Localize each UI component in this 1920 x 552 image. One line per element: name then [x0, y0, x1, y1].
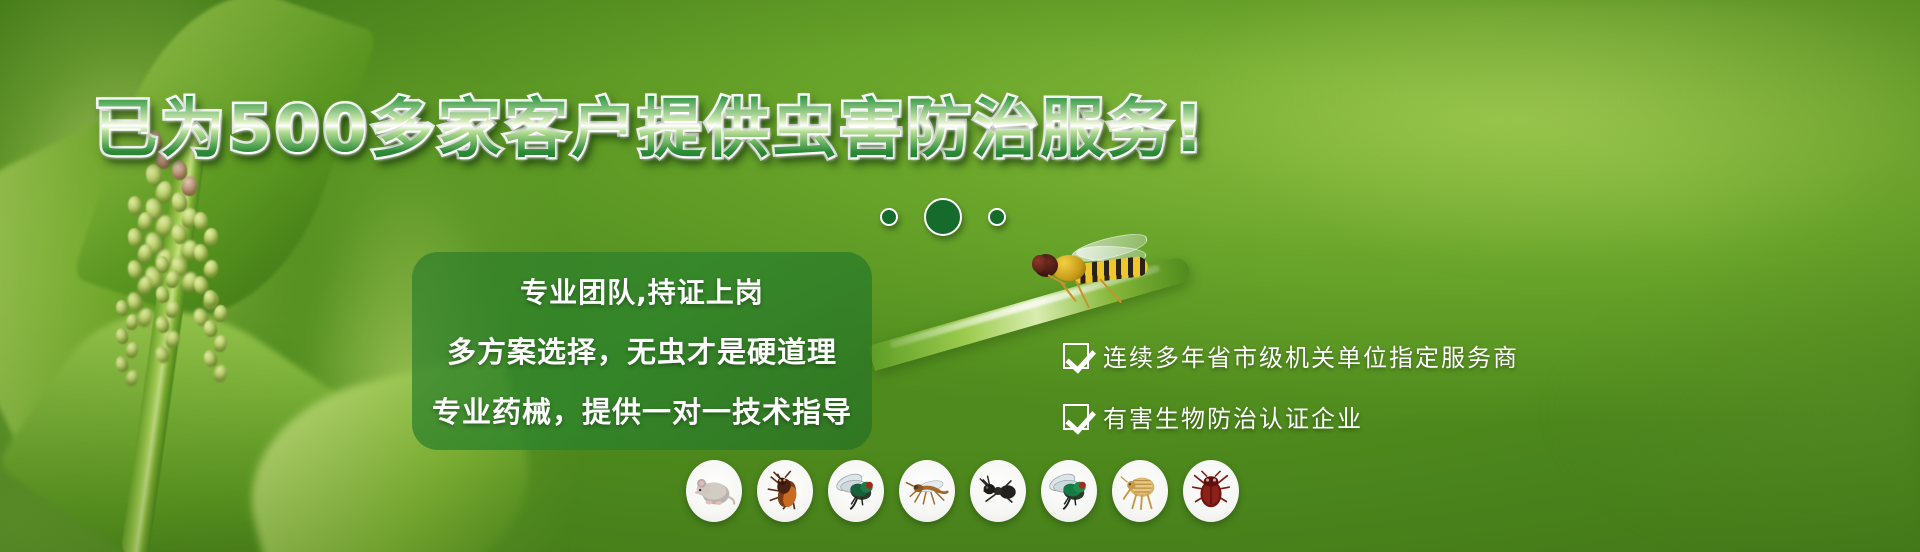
decor-dot-small	[988, 208, 1006, 226]
page-title: 已为500多家客户提供虫害防治服务!	[0, 78, 1300, 170]
list-item: 连续多年省市级机关单位指定服务商	[1063, 338, 1519, 373]
feature-list: 连续多年省市级机关单位指定服务商 有害生物防治认证企业	[1063, 338, 1519, 434]
flea-icon	[1112, 460, 1168, 522]
fly-icon-2	[1041, 460, 1097, 522]
decorative-dots	[880, 198, 1006, 236]
checkbox-checked-icon	[1063, 404, 1089, 430]
ant-icon	[970, 460, 1026, 522]
mouse-icon	[686, 460, 742, 522]
decor-dot-small	[880, 208, 898, 226]
selling-point-line-3: 专业药械，提供一对一技术指导	[432, 389, 852, 431]
mosquito-icon	[899, 460, 955, 522]
feature-label: 连续多年省市级机关单位指定服务商	[1103, 338, 1519, 373]
fly-icon	[828, 460, 884, 522]
pest-icon-row	[686, 460, 1239, 522]
hoverfly-icon	[1030, 238, 1160, 300]
decor-dot-large	[924, 198, 962, 236]
bedbug-icon	[1183, 460, 1239, 522]
feature-label: 有害生物防治认证企业	[1103, 399, 1363, 434]
list-item: 有害生物防治认证企业	[1063, 399, 1519, 434]
promo-banner: 已为500多家客户提供虫害防治服务! 已为500多家客户提供虫害防治服务! 专业…	[0, 0, 1920, 552]
hoverfly-eye	[1032, 255, 1047, 273]
selling-point-line-2: 多方案选择，无虫才是硬道理	[447, 329, 837, 371]
selling-point-line-1: 专业团队,持证上岗	[520, 271, 764, 311]
checkbox-checked-icon	[1063, 343, 1089, 369]
hoverfly-leg	[1099, 278, 1122, 303]
selling-points-panel: 专业团队,持证上岗 多方案选择，无虫才是硬道理 专业药械，提供一对一技术指导	[412, 252, 872, 450]
cockroach-icon	[757, 460, 813, 522]
